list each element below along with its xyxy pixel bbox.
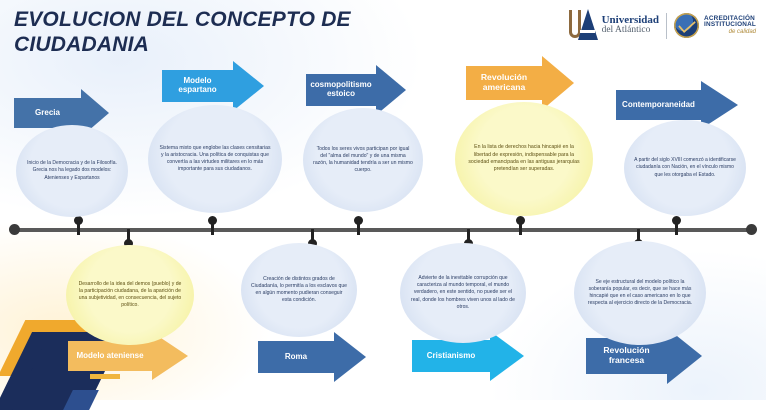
timeline-arrow-head	[376, 65, 406, 115]
timeline-arrow-label: Grecia	[14, 98, 81, 128]
timeline-arrow-head	[542, 56, 574, 110]
timeline-description-bubble: Sistema mixto que englobe las clases cen…	[148, 105, 282, 213]
page-title: EVOLUCION DEL CONCEPTO DE CIUDADANIA	[14, 8, 444, 58]
timeline-axis-start-cap	[9, 224, 20, 235]
timeline-description-bubble: Creación de distintos grados de Ciudadan…	[241, 243, 357, 337]
timeline-description-text: Se eje estructural del modelo político l…	[584, 279, 696, 308]
timeline-arrow-label: Revolución americana	[466, 66, 542, 100]
university-logo: Universidad del Atlántico	[569, 9, 659, 42]
timeline-description-bubble: A partir del siglo XVIII comenzó a ident…	[624, 120, 746, 216]
timeline-arrow[interactable]: Cristianismo	[412, 340, 524, 372]
timeline-description-bubble: Advierte de la inevitable corrupción que…	[400, 243, 526, 343]
accreditation-line2: INSTITUCIONAL	[704, 22, 756, 29]
university-crest-icon	[569, 9, 598, 42]
timeline-description-text: Inicio de la Democracia y de la Filosofí…	[26, 160, 118, 181]
timeline-arrow-label: Modelo espartano	[162, 70, 233, 102]
brand-logos: Universidad del Atlántico ACREDITACIÓN I…	[569, 9, 756, 42]
timeline-arrow[interactable]: Grecia	[14, 98, 109, 128]
timeline-description-text: Sistema mixto que englobe las clases cen…	[158, 145, 272, 174]
timeline-arrow[interactable]: cosmopolitismo estoico	[306, 74, 406, 106]
timeline-description-bubble: Inicio de la Democracia y de la Filosofí…	[16, 125, 128, 217]
accreditation-line3: de calidad	[704, 29, 756, 35]
timeline-marker	[672, 216, 681, 235]
accreditation-seal-icon	[674, 13, 699, 38]
timeline-description-text: Creación de distintos grados de Ciudadan…	[251, 276, 347, 305]
timeline-marker	[74, 216, 83, 235]
timeline-arrow[interactable]: Roma	[258, 341, 366, 373]
university-name-line2: del Atlántico	[602, 26, 659, 36]
timeline-arrow-head	[334, 332, 366, 382]
timeline-arrow[interactable]: Modelo ateniense	[68, 341, 188, 371]
timeline-marker	[208, 216, 217, 235]
timeline-arrow-label: Contemporaneidad	[616, 90, 701, 120]
timeline-arrow[interactable]: Revolución americana	[466, 66, 574, 100]
timeline-arrow-label: cosmopolitismo estoico	[306, 74, 376, 106]
timeline-axis-end-cap	[746, 224, 757, 235]
timeline-description-text: Advierte de la inevitable corrupción que…	[410, 275, 516, 311]
timeline-arrow[interactable]: Contemporaneidad	[616, 90, 738, 120]
timeline-arrow-label: Cristianismo	[412, 340, 490, 372]
brand-divider	[666, 13, 667, 39]
timeline-marker	[516, 216, 525, 235]
accreditation-logo: ACREDITACIÓN INSTITUCIONAL de calidad	[674, 13, 756, 38]
timeline-arrow-head	[701, 81, 738, 129]
timeline-marker	[354, 216, 363, 235]
timeline-arrow-head	[490, 331, 524, 381]
timeline-arrow-label: Modelo ateniense	[68, 341, 152, 371]
timeline-arrow-label: Roma	[258, 341, 334, 373]
timeline-description-text: A partir del siglo XVIII comenzó a ident…	[634, 157, 736, 178]
timeline-description-bubble: Desarrollo de la idea del demos (pueblo)…	[66, 245, 194, 345]
timeline-description-text: En la lista de derechos hacia hincapié e…	[465, 144, 583, 174]
timeline-description-text: Todos los seres vivos participan por igu…	[313, 146, 413, 175]
timeline-description-bubble: Todos los seres vivos participan por igu…	[303, 108, 423, 212]
timeline-description-bubble: Se eje estructural del modelo político l…	[574, 241, 706, 345]
timeline-description-bubble: En la lista de derechos hacia hincapié e…	[455, 102, 593, 216]
timeline-arrow-head	[233, 61, 264, 111]
timeline-arrow[interactable]: Modelo espartano	[162, 70, 264, 102]
timeline-description-text: Desarrollo de la idea del demos (pueblo)…	[76, 281, 184, 310]
